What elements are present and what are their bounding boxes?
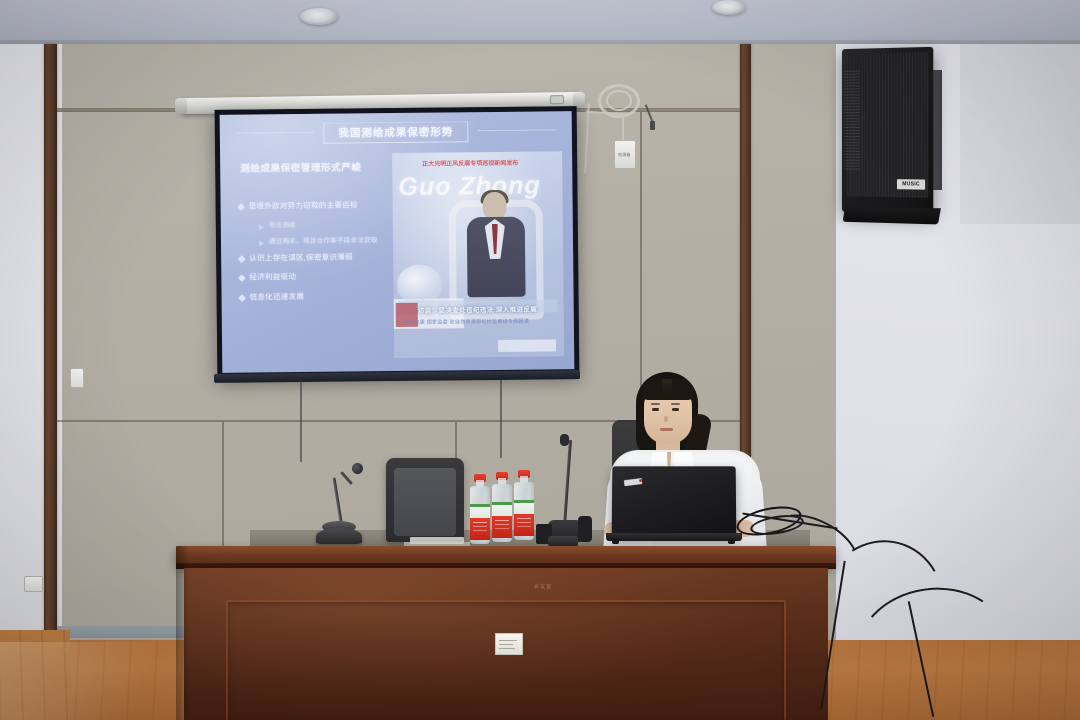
presenter-nose (664, 416, 668, 422)
screen-support-rod (500, 380, 502, 458)
presenter-hair-part (662, 379, 672, 395)
podium-asset-label (495, 633, 523, 655)
triangle-bullet-icon (259, 224, 264, 230)
water-bottle[interactable] (514, 470, 534, 540)
bullet-text: 认识上存在误区,保密意识薄弱 (249, 253, 353, 263)
wall-junction-box[interactable]: 电源箱 (614, 140, 636, 169)
podium-engraving: 会议室 (534, 583, 552, 590)
speaker-base (843, 206, 941, 224)
roller-knob[interactable] (550, 95, 564, 104)
laptop-foot (612, 538, 619, 544)
presenter-eyebrow (671, 403, 680, 405)
slide-subtitle: 测绘成果保密管理形式严峻 (240, 159, 361, 174)
desk-paper (410, 537, 464, 544)
desk-device-small[interactable] (578, 516, 592, 542)
conference-microphone[interactable] (316, 528, 362, 544)
bullet-text: 非法测绘 (269, 222, 296, 230)
diamond-bullet-icon (238, 275, 245, 282)
speaker-mount-bracket (932, 70, 942, 190)
bullet-text: 通过购买、项目合作等手段非法获取 (269, 237, 378, 246)
microphone-capsule (560, 434, 569, 446)
speaker-side-mesh (844, 71, 860, 170)
photo-headline-text: 访谈：坚决查处违纪违法 深入推进反腐 (418, 304, 538, 315)
screen-support-rod (300, 380, 302, 462)
label-line (499, 640, 517, 641)
presenter-mouth (660, 428, 673, 431)
podium-left-shadow (176, 546, 190, 720)
bottle-label-red (470, 518, 490, 540)
wall-power-outlet[interactable] (24, 576, 43, 592)
slide-embedded-photo: 正大光明正风反腐专项巡视新闻发布 Guo Zhong 访谈：坚决查处违纪违法 深… (392, 151, 564, 358)
diamond-bullet-icon (238, 255, 245, 262)
triangle-bullet-icon (259, 240, 264, 246)
photo-interviewee (464, 192, 527, 301)
presenter-eyebrow (651, 403, 660, 405)
wall-speaker: MUSIC (842, 47, 933, 214)
roller-cap-left (175, 98, 187, 114)
photo-flower-arrangement (397, 265, 441, 301)
ceiling-downlight-icon (300, 8, 338, 25)
laptop[interactable] (612, 466, 737, 538)
label-line (499, 644, 513, 645)
bottle-label-green-stripe (514, 500, 534, 503)
projector-screen: 我国测绘成果保密形势 测绘成果保密管理形式严峻 是境外敌对势力窃取的主要目标 非… (215, 106, 580, 378)
speaker-brand-badge: MUSIC (897, 179, 925, 190)
laptop-base (606, 533, 742, 541)
bullet-text: 经济利益驱动 (249, 273, 296, 282)
bottle-label-red (514, 514, 534, 536)
bullet-text: 信息化迅速发展 (250, 293, 305, 302)
wall-junction-box-label: 电源箱 (618, 152, 631, 158)
photo-ticker-bar (498, 339, 556, 352)
ceiling-downlight-icon (712, 0, 746, 15)
photo-person-head (482, 192, 506, 220)
photo-top-caption: 正大光明正风反腐专项巡视新闻发布 (422, 158, 518, 168)
coiled-cable-inner (606, 90, 632, 111)
bullet-text: 是境外敌对势力窃取的主要目标 (249, 201, 358, 211)
slide-title-frame: 我国测绘成果保密形势 (323, 121, 468, 144)
photo-subheadline-text: 中央纪委 国家监委 驻自然资源部纪检监察组专题报道 (404, 318, 529, 326)
wall-right-edge (960, 44, 1080, 224)
title-decoration-line (478, 129, 556, 131)
laptop-foot (728, 538, 735, 544)
bottle-label-green-stripe (470, 504, 490, 507)
conference-room-scene: 电源箱 MUSIC 我国测绘成果保密形势 测绘成果保密管理形式严峻 是境 (0, 0, 1080, 720)
wall-switch-plate[interactable] (70, 368, 84, 388)
wall-wire (622, 116, 624, 142)
label-line (499, 648, 515, 649)
presenter-eye (652, 408, 659, 411)
office-chair-empty[interactable] (386, 458, 464, 542)
podium-inset-molding (226, 600, 786, 720)
slide-title: 我国测绘成果保密形势 (338, 124, 453, 140)
bottle-label-red (492, 516, 512, 538)
diamond-bullet-icon (238, 204, 245, 211)
water-bottle[interactable] (492, 472, 512, 542)
floor-reflection (0, 642, 200, 720)
bottle-label-green-stripe (492, 502, 512, 505)
cable-plug-icon (650, 121, 655, 130)
presenter-eye (672, 408, 679, 411)
water-bottle[interactable] (470, 474, 490, 544)
chair-backrest-cushion (394, 468, 456, 536)
microphone-capsule (352, 463, 363, 474)
wall-trim-vertical (44, 44, 57, 644)
presentation-slide: 我国测绘成果保密形势 测绘成果保密管理形式严峻 是境外敌对势力窃取的主要目标 非… (220, 111, 575, 373)
diamond-bullet-icon (239, 295, 246, 302)
